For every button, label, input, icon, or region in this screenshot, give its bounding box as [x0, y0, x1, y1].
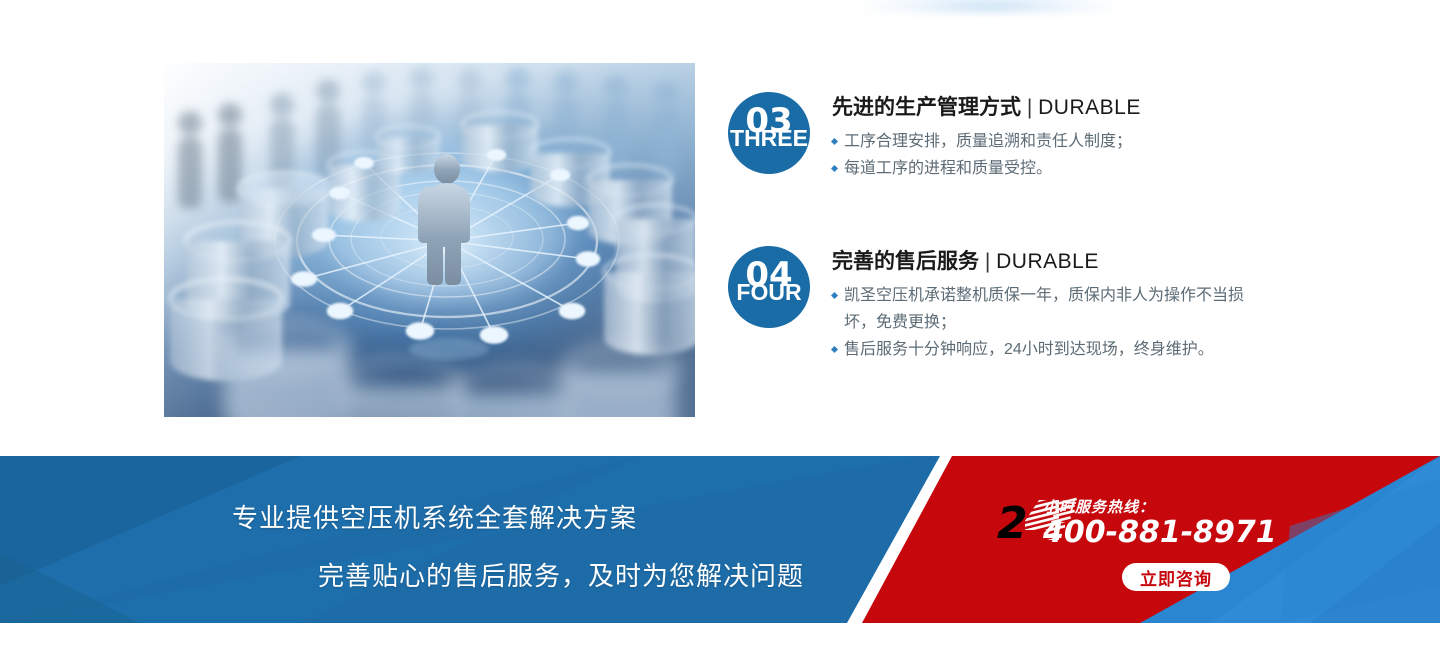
feature-body-03: 先进的生产管理方式 | DURABLE 工序合理安排，质量追溯和责任人制度； 每… — [832, 92, 1268, 182]
feature-title-03: 先进的生产管理方式 | DURABLE — [832, 94, 1268, 122]
feature-badge-04: 04 FOUR — [728, 246, 810, 328]
feature-badge-03: 03 THREE — [728, 92, 810, 174]
consult-now-button[interactable]: 立即咨询 — [1122, 563, 1230, 591]
feature-bullet: 每道工序的进程和质量受控。 — [832, 155, 1264, 182]
hotline-label: 小时服务热线： — [1043, 496, 1155, 517]
feature-list: 03 THREE 先进的生产管理方式 | DURABLE 工序合理安排，质量追溯… — [728, 92, 1268, 385]
feature-item-03: 03 THREE 先进的生产管理方式 | DURABLE 工序合理安排，质量追溯… — [728, 92, 1268, 182]
feature-title-en: DURABLE — [996, 250, 1099, 273]
banner-slogan-line2: 完善贴心的售后服务，及时为您解决问题 — [318, 556, 804, 593]
feature-title-cn: 先进的生产管理方式 — [832, 96, 1021, 119]
feature-title-separator: | — [1021, 96, 1038, 119]
banner-slogan-line1: 专业提供空压机系统全套解决方案 — [232, 498, 637, 535]
hero-network-image — [164, 63, 695, 417]
feature-title-separator: | — [979, 250, 996, 273]
advantages-banner-page: 03 THREE 先进的生产管理方式 | DURABLE 工序合理安排，质量追溯… — [0, 0, 1440, 663]
feature-bullet: 工序合理安排，质量追溯和责任人制度； — [832, 128, 1264, 155]
svg-text:2: 2 — [997, 498, 1028, 546]
feature-title-en: DURABLE — [1038, 96, 1141, 119]
feature-title-04: 完善的售后服务 | DURABLE — [832, 248, 1268, 276]
feature-body-04: 完善的售后服务 | DURABLE 凯圣空压机承诺整机质保一年，质保内非人为操作… — [832, 246, 1268, 363]
top-glow-wisp — [860, 0, 1120, 12]
hotline-block: 2 小时服务热线： 400-881-8971 立即咨询 — [995, 494, 1265, 614]
cta-banner: 专业提供空压机系统全套解决方案 完善贴心的售后服务，及时为您解决问题 2 — [0, 456, 1440, 623]
banner-slogan-block: 专业提供空压机系统全套解决方案 完善贴心的售后服务，及时为您解决问题 — [0, 456, 920, 623]
feature-bullet: 凯圣空压机承诺整机质保一年，质保内非人为操作不当损坏，免费更换； — [832, 282, 1264, 336]
feature-title-cn: 完善的售后服务 — [832, 250, 979, 273]
hotline-number: 400-881-8971 — [1043, 515, 1277, 550]
feature-bullets-03: 工序合理安排，质量追溯和责任人制度； 每道工序的进程和质量受控。 — [832, 128, 1268, 182]
feature-bullet: 售后服务十分钟响应，24小时到达现场，终身维护。 — [832, 336, 1264, 363]
feature-item-04: 04 FOUR 完善的售后服务 | DURABLE 凯圣空压机承诺整机质保一年，… — [728, 246, 1268, 363]
feature-badge-word: THREE — [728, 125, 810, 151]
feature-badge-word: FOUR — [728, 279, 810, 305]
feature-bullets-04: 凯圣空压机承诺整机质保一年，质保内非人为操作不当损坏，免费更换； 售后服务十分钟… — [832, 282, 1268, 363]
